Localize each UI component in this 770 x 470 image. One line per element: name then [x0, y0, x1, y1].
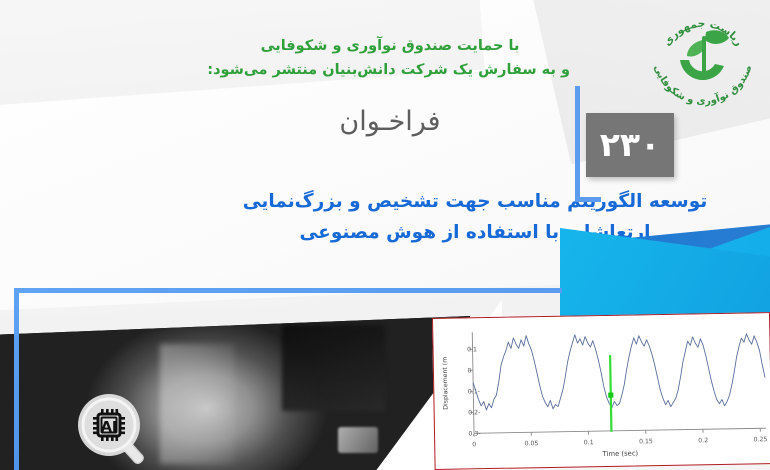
ai-magnifier-icon: AI	[70, 392, 148, 470]
y-tick-label: 0.1	[467, 346, 477, 353]
frame-bracket-vertical	[14, 288, 19, 470]
machinery-photo-highlight	[160, 344, 235, 464]
x-axis-label: Time (sec)	[602, 449, 639, 458]
x-tick-label: 0.2	[698, 437, 708, 444]
y-axis-label: Displacement (m	[442, 357, 450, 410]
y-tick-label: -0.3	[468, 430, 480, 437]
vibration-chart-panel: 00.050.10.150.20.250.10-0.1-0.2-0.3Time …	[432, 312, 770, 470]
poster-root: ریاست جمهوری صندوق نوآوری و شکوفایی با ح…	[0, 0, 770, 470]
machinery-photo-bolt	[338, 427, 378, 453]
machinery-photo-shadow	[282, 325, 385, 411]
x-tick-label: 0.15	[639, 438, 653, 445]
ai-chip-label: AI	[101, 420, 118, 436]
intro-text: با حمایت صندوق نوآوری و شکوفایی و به سفا…	[210, 34, 570, 82]
x-tick-label: 0.05	[525, 440, 539, 447]
intro-line-1: با حمایت صندوق نوآوری و شکوفایی	[210, 34, 570, 58]
call-number-badge: ۲۳۰	[586, 113, 674, 177]
intro-line-2: و به سفارش یک شرکت دانش‌بنیان منتشر می‌ش…	[210, 58, 570, 82]
page-title: فراخـوان	[260, 105, 520, 139]
y-tick-label: -0.2	[468, 409, 480, 416]
x-tick-label: 0	[472, 441, 476, 448]
y-tick-label: -0.1	[468, 388, 480, 395]
y-tick-label: 0	[467, 367, 471, 374]
headline-line-1: توسعه الگوریتم مناسب جهت تشخیص و بزرگ‌نم…	[215, 186, 735, 217]
badge-bracket-vertical	[575, 86, 580, 202]
innovation-fund-logo: ریاست جمهوری صندوق نوآوری و شکوفایی	[644, 2, 762, 112]
call-number-value: ۲۳۰	[600, 128, 660, 161]
x-tick-label: 0.25	[753, 436, 767, 443]
frame-bracket-horizontal	[14, 288, 562, 293]
vibration-chart: 00.050.10.150.20.250.10-0.1-0.2-0.3Time …	[434, 313, 770, 468]
badge-bracket-foot	[575, 197, 601, 202]
x-tick-label: 0.1	[584, 439, 594, 446]
